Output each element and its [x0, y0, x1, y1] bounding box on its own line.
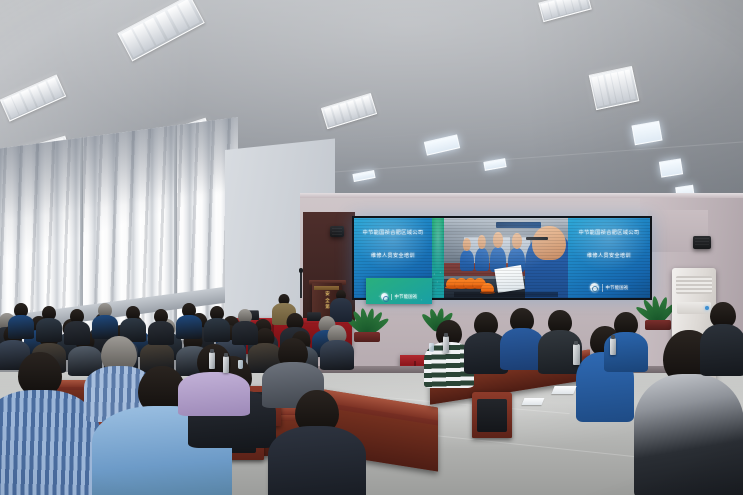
video-caption-bar	[454, 292, 558, 297]
slide-heading-right: 中节能国祯合肥区域公司	[568, 231, 650, 236]
microphone-stand[interactable]	[300, 272, 302, 298]
glasses-icon	[526, 237, 548, 240]
ceiling-light-fixture	[659, 158, 683, 177]
led-panel-center-video[interactable]	[444, 218, 568, 298]
attendee-back-row	[148, 309, 174, 339]
attendee-front-dark	[268, 390, 366, 495]
slide-subheading-left: 维修人员安全培训	[354, 254, 432, 259]
slide-subheading-right: 维修人员安全培训	[568, 254, 650, 259]
attendee-back-row	[320, 325, 354, 363]
conference-room-photo: 中节能国祯合肥区域公司 维修人员安全培训 中节能国祯	[0, 0, 743, 495]
logo-divider	[602, 284, 603, 292]
water-bottle[interactable]	[209, 352, 215, 369]
slide-heading-left: 中节能国祯合肥区域公司	[354, 231, 432, 236]
company-logo-icon	[381, 293, 388, 300]
attendee-far-right	[700, 302, 743, 372]
attendee-back-row	[176, 303, 202, 333]
handout-paper[interactable]	[522, 398, 545, 405]
wall-trim	[300, 193, 743, 198]
chair-right-1[interactable]	[472, 392, 512, 438]
water-bottle[interactable]	[610, 338, 616, 355]
drinking-cup[interactable]	[238, 360, 243, 369]
attendee-back-row	[8, 303, 34, 333]
attendee-back-row	[120, 306, 146, 336]
drinking-cup[interactable]	[429, 343, 434, 352]
plant-pot	[354, 332, 380, 342]
water-bottle[interactable]	[223, 356, 229, 373]
logo-wordmark-right: 中节能国祯	[606, 285, 629, 291]
attendee-back-row	[232, 309, 258, 339]
video-document	[494, 265, 525, 293]
attendee-back-row	[204, 306, 230, 336]
attendee-back-row	[92, 303, 118, 333]
video-foreground-head	[532, 226, 565, 260]
video-worker	[475, 248, 489, 270]
video-worker	[460, 250, 474, 271]
speaker-left	[330, 226, 344, 237]
plant-pot	[645, 320, 671, 330]
ac-grille	[676, 276, 713, 294]
handout-paper[interactable]	[551, 386, 576, 394]
logo-wordmark-green: 中节能国祯	[395, 294, 418, 300]
water-bottle[interactable]	[573, 344, 580, 365]
water-bottle[interactable]	[443, 336, 449, 353]
led-panel-right[interactable]: 中节能国祯合肥区域公司 维修人员安全培训 中节能国祯	[568, 218, 650, 298]
logo-divider	[391, 294, 392, 300]
led-panel-green-edge[interactable]	[432, 218, 444, 298]
attendee-back-row	[64, 309, 90, 339]
speaker-right	[693, 236, 711, 249]
green-slide-pattern	[432, 218, 444, 298]
video-banner	[496, 222, 541, 228]
company-logo-icon	[590, 283, 599, 292]
attendee-back-row	[36, 306, 62, 336]
